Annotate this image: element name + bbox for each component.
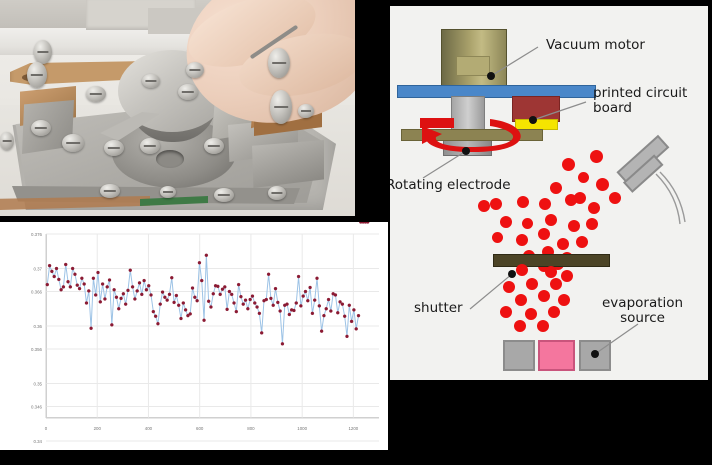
chart-data-point <box>53 275 56 278</box>
label-vacuum-motor: Vacuum motor <box>546 38 645 53</box>
chart-data-point <box>205 254 208 257</box>
laboratory-fixture-photo <box>0 0 355 216</box>
chart-data-point <box>110 323 113 326</box>
chart-data-point <box>339 300 342 303</box>
chart-data-point <box>313 299 316 302</box>
chart-data-point <box>228 290 231 293</box>
chart-data-point <box>281 342 284 345</box>
label-evaporation-source: evaporation source <box>602 296 683 326</box>
photo-screw <box>270 90 292 124</box>
chart-data-point <box>131 285 134 288</box>
chart-data-point <box>126 289 129 292</box>
chart-data-point <box>198 261 201 264</box>
chart-data-point <box>345 335 348 338</box>
chart-data-point <box>357 314 360 317</box>
chart-data-point <box>246 307 249 310</box>
chart-data-point <box>177 304 180 307</box>
chart-data-point <box>182 302 185 305</box>
chart-data-point <box>175 294 178 297</box>
chart-data-point <box>244 299 247 302</box>
chart-data-point <box>108 279 111 282</box>
chart-data-point <box>260 331 263 334</box>
label-printed-circuit-board: printed circuit board <box>593 86 687 116</box>
chart-data-point <box>106 285 109 288</box>
chart-data-point <box>92 277 95 280</box>
photo-screw <box>160 186 176 198</box>
chart-data-point <box>145 288 148 291</box>
chart-data-point <box>288 313 291 316</box>
chart-data-point <box>196 299 199 302</box>
chart-data-point <box>115 296 118 299</box>
photo-screw <box>86 86 106 102</box>
chart-data-point <box>120 297 123 300</box>
chart-data-point <box>46 283 49 286</box>
chart-data-point <box>57 278 60 281</box>
anchor-dot-evaporation-source <box>591 350 599 358</box>
chart-data-point <box>253 302 256 305</box>
chart-y-tick-label: 0.366 <box>31 289 43 294</box>
chart-data-point <box>316 277 319 280</box>
photo-screw <box>214 188 234 202</box>
chart-data-point <box>48 264 51 267</box>
photo-screw <box>178 84 198 100</box>
chart-y-tick-label: 0.36 <box>33 324 42 329</box>
chart-data-point <box>350 320 353 323</box>
chart-data-point <box>94 293 97 296</box>
chart-x-tick-label: 0 <box>45 426 48 431</box>
chart-data-point <box>334 293 337 296</box>
chart-svg: 0.3760.370.3660.360.3560.350.3460.340200… <box>0 222 388 450</box>
chart-x-tick-label: 1000 <box>297 426 307 431</box>
chart-data-point <box>242 303 245 306</box>
photo-disc-hole <box>156 150 184 168</box>
chart-data-point <box>233 302 236 305</box>
chart-y-tick-label: 0.37 <box>33 266 42 271</box>
chart-data-point <box>309 286 312 289</box>
chart-data-point <box>101 283 104 286</box>
chart-data-point <box>292 309 295 312</box>
chart-data-point <box>161 291 164 294</box>
chart-data-point <box>216 285 219 288</box>
photo-screw <box>268 48 290 78</box>
chart-data-point <box>348 304 351 307</box>
chart-x-tick-label: 800 <box>247 426 255 431</box>
chart-data-point <box>76 284 79 287</box>
photo-screw <box>104 140 124 156</box>
photo-screw <box>186 62 204 78</box>
chart-data-point <box>209 306 212 309</box>
evaporation-system-diagram: Vacuum motor printed circuit board Rotat… <box>390 6 708 380</box>
anchor-dot-printed-circuit-board <box>529 116 537 124</box>
photo-screw <box>204 138 224 154</box>
screenshot-root: Vacuum motor printed circuit board Rotat… <box>0 0 712 465</box>
chart-data-point <box>147 284 150 287</box>
chart-data-point <box>235 310 238 313</box>
chart-data-point <box>336 311 339 314</box>
chart-data-point <box>90 327 93 330</box>
photo-screw <box>268 186 286 200</box>
chart-data-point <box>55 267 58 270</box>
chart-data-point <box>256 306 259 309</box>
chart-data-point <box>286 303 289 306</box>
measurement-line-chart: 0.3760.370.3660.360.3560.350.3460.340200… <box>0 222 388 450</box>
chart-data-point <box>189 312 192 315</box>
chart-data-point <box>50 270 53 273</box>
chart-data-point <box>249 298 252 301</box>
chart-data-point <box>274 287 277 290</box>
chart-data-point <box>355 327 358 330</box>
chart-data-point <box>62 285 65 288</box>
chart-data-point <box>212 292 215 295</box>
chart-y-tick-label: 0.346 <box>31 404 43 409</box>
chart-data-point <box>156 322 159 325</box>
photo-screw <box>0 132 14 150</box>
chart-data-point <box>221 288 224 291</box>
chart-data-point <box>341 303 344 306</box>
photo-screw <box>27 62 47 88</box>
chart-data-point <box>140 293 143 296</box>
chart-data-point <box>184 308 187 311</box>
chart-data-point <box>152 310 155 313</box>
photo-screw <box>140 138 160 154</box>
chart-data-point <box>200 279 203 282</box>
chart-data-point <box>64 263 67 266</box>
chart-data-point <box>170 276 173 279</box>
chart-x-tick-label: 200 <box>94 426 102 431</box>
chart-data-point <box>154 315 157 318</box>
chart-data-point <box>272 304 275 307</box>
chart-y-tick-label: 0.35 <box>33 381 42 386</box>
chart-data-point <box>295 302 298 305</box>
chart-data-point <box>83 283 86 286</box>
chart-data-point <box>97 271 100 274</box>
chart-data-point <box>226 308 229 311</box>
chart-data-point <box>297 275 300 278</box>
chart-data-point <box>138 281 141 284</box>
chart-data-point <box>67 280 70 283</box>
chart-data-point <box>168 293 171 296</box>
chart-data-point <box>78 287 81 290</box>
chart-data-point <box>150 293 153 296</box>
anchor-dot-shutter <box>508 270 516 278</box>
label-rotating-electrode: Rotating electrode <box>390 178 511 193</box>
chart-data-point <box>267 273 270 276</box>
chart-x-tick-label: 1200 <box>348 426 358 431</box>
chart-data-point <box>318 304 321 307</box>
photo-screw <box>34 40 52 64</box>
chart-data-point <box>133 297 136 300</box>
chart-y-tick-label: 0.34 <box>33 439 42 444</box>
chart-data-point <box>124 303 127 306</box>
chart-data-point <box>191 287 194 290</box>
chart-data-point <box>251 295 254 298</box>
photo-screw <box>142 74 160 88</box>
chart-data-point <box>69 285 72 288</box>
chart-data-point <box>143 279 146 282</box>
chart-data-point <box>237 283 240 286</box>
chart-data-point <box>159 303 162 306</box>
chart-data-point <box>166 299 169 302</box>
photo-screw <box>298 104 314 118</box>
chart-data-point <box>85 302 88 305</box>
chart-data-point <box>136 289 139 292</box>
chart-data-point <box>71 267 74 270</box>
chart-data-point <box>117 307 120 310</box>
chart-data-point <box>60 288 63 291</box>
chart-data-point <box>163 296 166 299</box>
chart-data-point <box>80 277 83 280</box>
chart-data-point <box>223 285 226 288</box>
chart-y-tick-label: 0.376 <box>31 232 43 237</box>
chart-y-tick-label: 0.356 <box>31 347 43 352</box>
chart-data-point <box>325 307 328 310</box>
chart-data-point <box>299 304 302 307</box>
chart-data-point <box>265 298 268 301</box>
chart-data-point <box>306 299 309 302</box>
chart-data-point <box>322 314 325 317</box>
chart-data-point <box>304 290 307 293</box>
photo-screw <box>100 184 120 198</box>
chart-data-point <box>352 308 355 311</box>
chart-x-tick-label: 400 <box>145 426 153 431</box>
chart-data-point <box>103 297 106 300</box>
chart-data-point <box>230 293 233 296</box>
chart-data-point <box>327 298 330 301</box>
anchor-dot-vacuum-motor <box>487 72 495 80</box>
chart-data-point <box>329 310 332 313</box>
chart-data-point <box>203 319 206 322</box>
chart-data-point <box>311 312 314 315</box>
chart-data-point <box>302 295 305 298</box>
chart-data-point <box>366 222 369 224</box>
anchor-dot-rotating-electrode <box>462 147 470 155</box>
photo-screw <box>31 120 51 136</box>
chart-data-point <box>113 288 116 291</box>
label-shutter: shutter <box>414 301 463 316</box>
chart-data-point <box>179 317 182 320</box>
chart-data-point <box>99 300 102 303</box>
chart-data-point <box>73 273 76 276</box>
chart-data-point <box>239 295 242 298</box>
chart-x-tick-label: 600 <box>196 426 204 431</box>
chart-data-point <box>343 315 346 318</box>
chart-data-point <box>276 301 279 304</box>
chart-data-point <box>193 296 196 299</box>
chart-data-point <box>173 301 176 304</box>
chart-data-point <box>320 330 323 333</box>
chart-data-point <box>122 292 125 295</box>
chart-data-point <box>207 300 210 303</box>
chart-data-point <box>279 310 282 313</box>
chart-data-point <box>129 269 132 272</box>
chart-data-point <box>87 289 90 292</box>
chart-data-point <box>258 312 261 315</box>
chart-data-point <box>269 297 272 300</box>
chart-data-point <box>219 293 222 296</box>
photo-screw <box>62 134 84 152</box>
